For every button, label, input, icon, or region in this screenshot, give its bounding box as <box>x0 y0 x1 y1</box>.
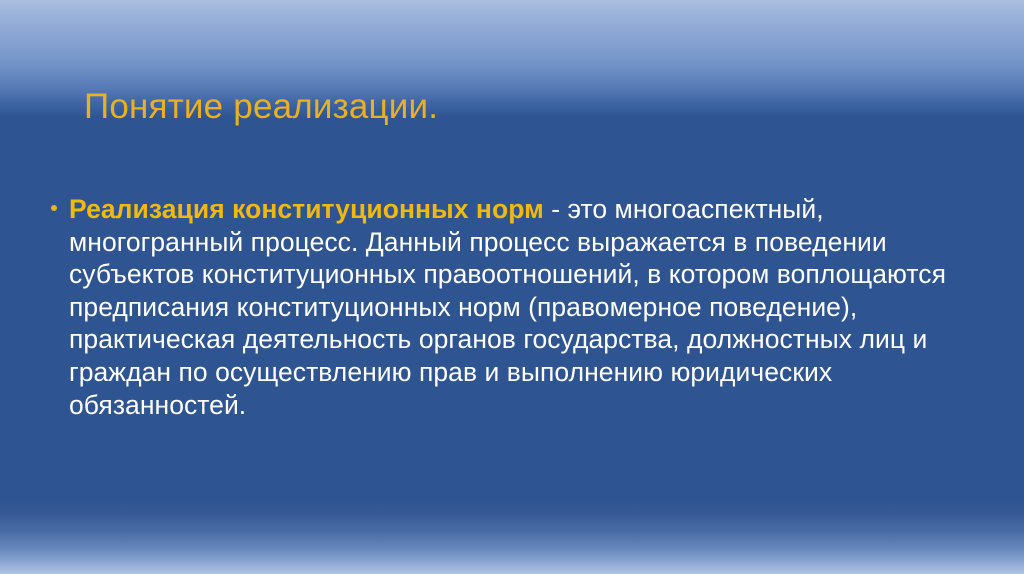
list-item: Реализация конституционных норм - это мн… <box>50 193 980 421</box>
bullet-body-text: - это многоаспектный, многогранный проце… <box>69 194 946 420</box>
slide-title: Понятие реализации. <box>84 87 964 127</box>
bullet-point-icon <box>51 205 57 211</box>
bullet-lead-term: Реализация конституционных норм <box>69 194 544 224</box>
slide-body: Реализация конституционных норм - это мн… <box>50 193 980 421</box>
presentation-slide: Понятие реализации. Реализация конституц… <box>0 0 1024 574</box>
